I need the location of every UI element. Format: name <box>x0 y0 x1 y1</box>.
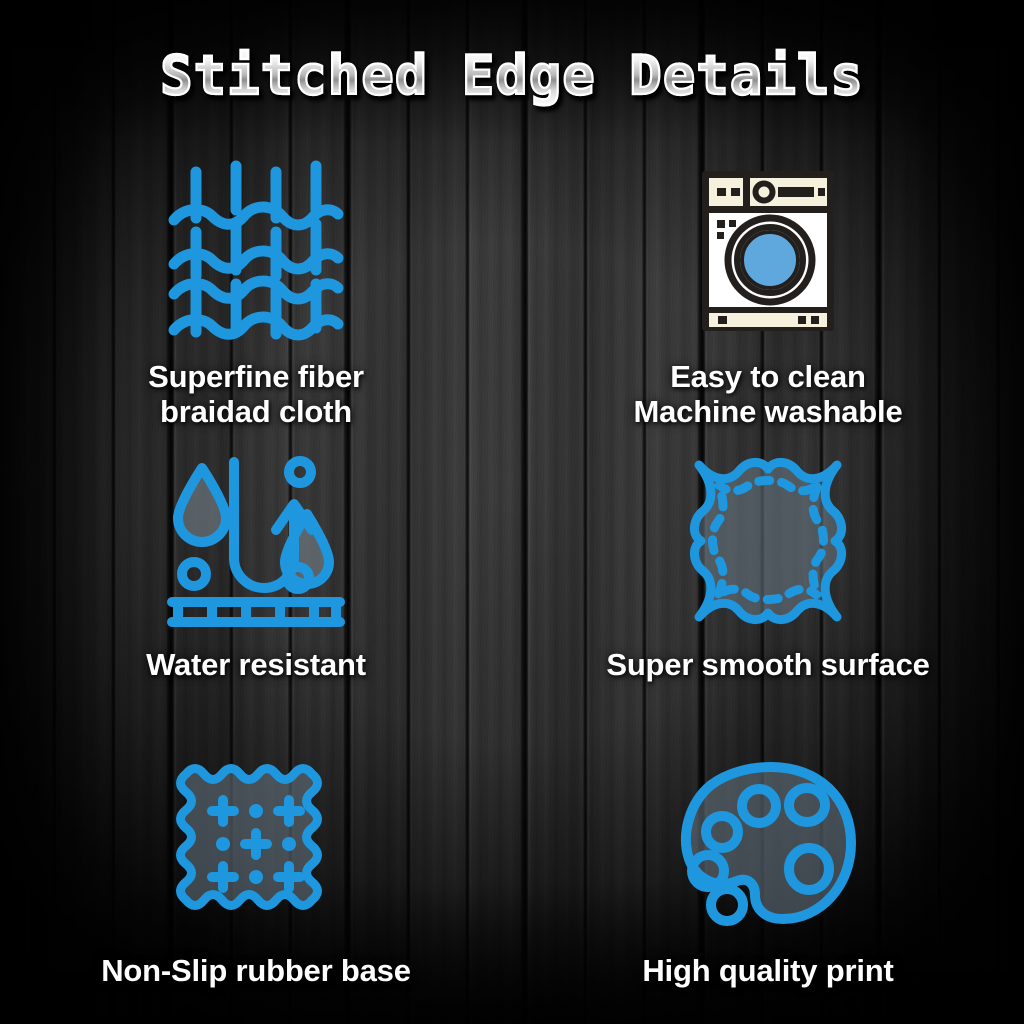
feature-label: Water resistant <box>146 648 366 683</box>
wavy-edge-rubber-mat-icon <box>172 754 340 934</box>
feature-label: Easy to clean Machine washable <box>633 360 902 429</box>
feature-label: High quality print <box>642 954 893 989</box>
woven-fabric-icon <box>168 158 344 344</box>
paint-palette-icon <box>679 754 857 934</box>
feature-label: Non-Slip rubber base <box>101 954 410 989</box>
poster-title-container: Stitched Edge Details <box>0 48 1024 105</box>
feature-item-machine-washable: Easy to clean Machine washable <box>512 150 1024 450</box>
feature-item-smooth-surface: Super smooth surface <box>512 450 1024 740</box>
feature-item-non-slip-base: Non-Slip rubber base <box>0 740 512 1010</box>
feature-item-high-quality-print: High quality print <box>512 740 1024 1010</box>
feature-grid: Superfine fiber braidad cloth <box>0 150 1024 1010</box>
water-droplet-repel-icon <box>170 452 342 628</box>
page-title: Stitched Edge Details <box>160 48 864 105</box>
leather-hide-stitched-icon <box>683 452 853 628</box>
feature-infographic-poster: Stitched Edge Details <box>0 0 1024 1024</box>
feature-item-water-resistant: Water resistant <box>0 450 512 740</box>
feature-item-superfine-fiber: Superfine fiber braidad cloth <box>0 150 512 450</box>
washing-machine-icon <box>698 158 838 344</box>
feature-label: Superfine fiber braidad cloth <box>148 360 364 429</box>
feature-label: Super smooth surface <box>606 648 929 683</box>
